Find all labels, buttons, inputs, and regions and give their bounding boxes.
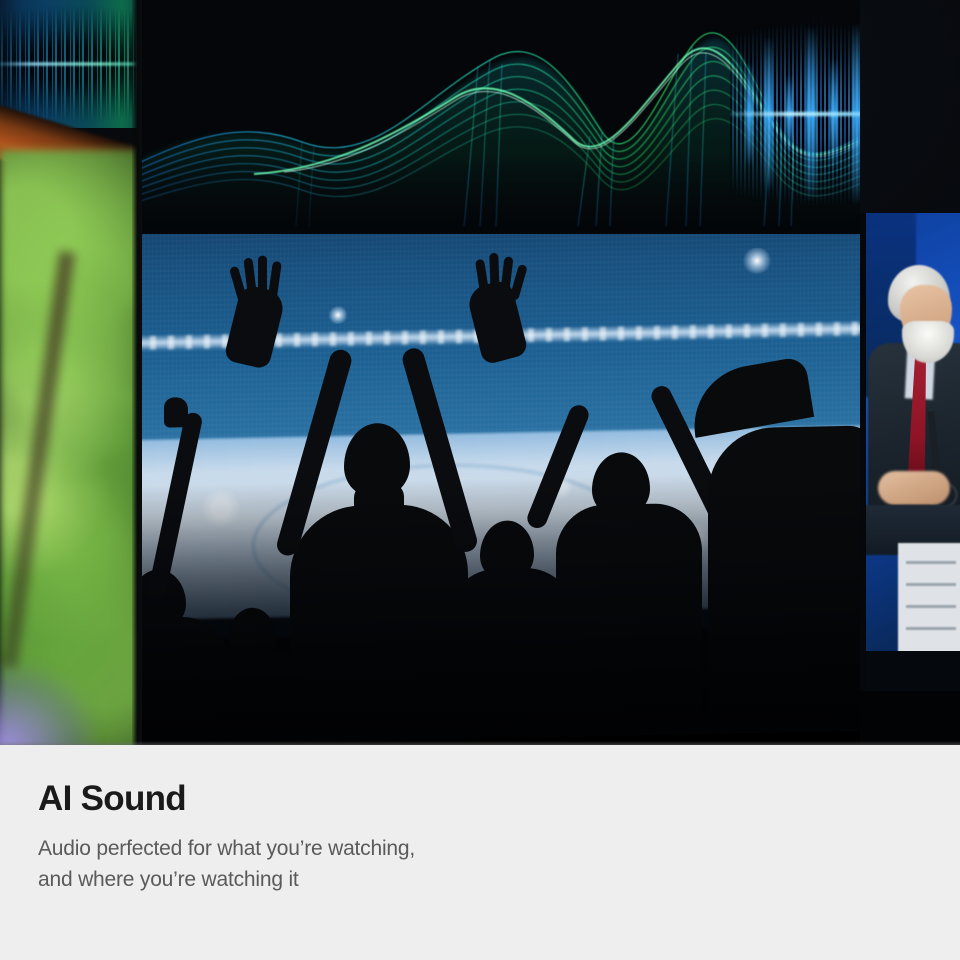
raised-hand xyxy=(164,397,188,427)
document-line xyxy=(906,561,956,564)
anchor-hands xyxy=(878,471,950,505)
hero-image xyxy=(0,0,960,745)
document-line xyxy=(906,627,956,630)
left-tv-panel xyxy=(0,0,142,745)
document-line xyxy=(906,605,956,608)
document-line xyxy=(906,583,956,586)
right-tv-panel xyxy=(860,213,960,691)
finger xyxy=(258,255,267,301)
finger xyxy=(489,253,500,297)
sound-wave-overlay xyxy=(142,0,860,234)
left-panel-waveform xyxy=(0,0,142,128)
blue-waveform-centerline xyxy=(730,112,860,116)
caption-panel: AI Sound Audio perfected for what you’re… xyxy=(0,745,960,960)
right-panel-lower-bezel xyxy=(860,651,960,691)
desk-document xyxy=(898,543,960,653)
feature-title: AI Sound xyxy=(38,779,186,819)
foliage-scene xyxy=(0,150,142,745)
ai-sound-feature-card: AI Sound Audio perfected for what you’re… xyxy=(0,0,960,960)
feature-subtitle: Audio perfected for what you’re watching… xyxy=(38,833,415,895)
foreground-shadow-gradient xyxy=(142,470,860,745)
blue-bar-waveform xyxy=(730,0,860,231)
purple-glow xyxy=(0,665,94,745)
left-panel-bezel xyxy=(132,0,142,745)
main-tv-panel xyxy=(142,0,860,745)
left-waveform-centerline xyxy=(0,63,142,66)
right-panel-bezel xyxy=(860,213,866,691)
